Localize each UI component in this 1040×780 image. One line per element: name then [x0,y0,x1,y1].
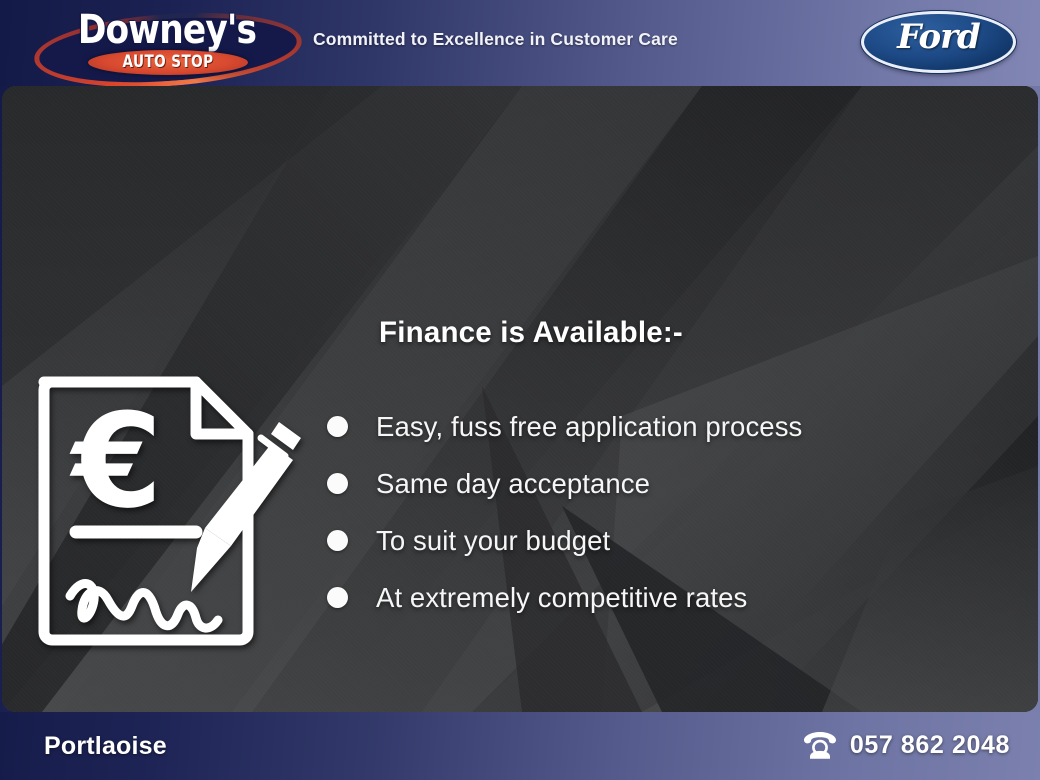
site-footer: Portlaoise 057 862 2048 [0,712,1040,780]
site-header: Downey's AUTO STOP Committed to Excellen… [0,0,1040,86]
list-item-label: At extremely competitive rates [376,582,747,614]
list-item: At extremely competitive rates [327,569,1027,626]
list-item-label: To suit your budget [376,525,610,557]
advert-banner: Downey's AUTO STOP Committed to Excellen… [0,0,1040,780]
dealer-logo[interactable]: Downey's AUTO STOP [28,4,298,84]
phone-contact[interactable]: 057 862 2048 [802,730,1010,760]
list-item: Same day acceptance [327,455,1027,512]
list-item: To suit your budget [327,512,1027,569]
header-tagline: Committed to Excellence in Customer Care [313,29,678,50]
euro-document-signature-icon: € [32,364,312,650]
list-item-label: Easy, fuss free application process [376,411,802,443]
ford-logo[interactable]: Ford [861,11,1016,73]
list-item-label: Same day acceptance [376,468,650,500]
bullet-dot-icon [327,530,348,551]
telephone-icon [802,730,838,760]
dealer-logo-subtitle: AUTO STOP [104,52,232,72]
benefits-list: Easy, fuss free application process Same… [327,398,1027,626]
bullet-dot-icon [327,587,348,608]
bullet-dot-icon [327,416,348,437]
bullet-dot-icon [327,473,348,494]
svg-text:€: € [69,385,162,537]
page-title: Finance is Available:- [379,316,683,350]
main-panel: € Finance is Available:- Easy, fuss free… [2,86,1038,712]
list-item: Easy, fuss free application process [327,398,1027,455]
dealer-logo-name: Downey's [77,7,258,53]
ford-logo-text: Ford [861,17,1016,57]
location-label: Portlaoise [44,732,167,761]
phone-number: 057 862 2048 [850,731,1010,760]
